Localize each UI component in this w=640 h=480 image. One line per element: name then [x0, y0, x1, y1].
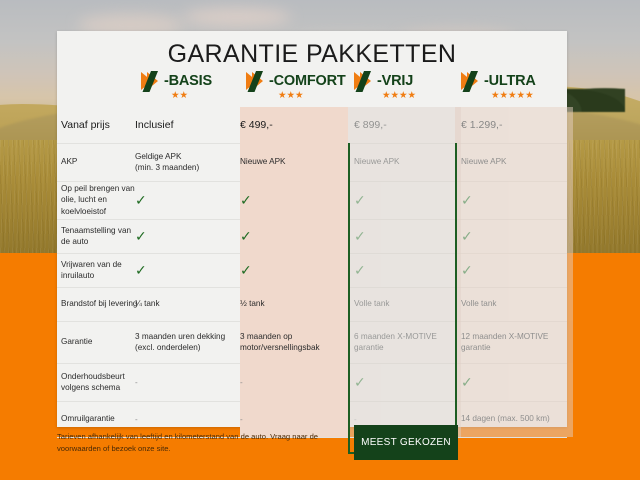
row-label: Tenaamstelling van de auto	[57, 219, 139, 253]
star-rating-comfort: ★★★	[278, 91, 304, 101]
check-icon: ✓	[461, 193, 473, 207]
x-motive-logo-icon	[354, 71, 376, 91]
check-icon: ✓	[354, 375, 366, 389]
table-cell: 6 maanden X-MOTIVEgarantie	[348, 321, 461, 363]
table-cell: ✓	[240, 219, 348, 253]
page-title: GARANTIE PAKKETTEN	[57, 31, 567, 67]
check-icon: ✓	[240, 229, 252, 243]
row-label: Onderhoudsbeurt volgens schema	[57, 363, 139, 401]
cell-value: € 899,-	[354, 118, 387, 132]
cell-value: Geldige APK(min. 3 maanden)	[135, 151, 199, 173]
table-cell: 3 maanden uren dekking(excl. onderdelen)	[135, 321, 240, 363]
row-label-text: Omruilgarantie	[61, 413, 115, 424]
empty-dash: -	[135, 415, 138, 424]
table-cell: ✓	[348, 219, 461, 253]
cell-value: € 499,-	[240, 118, 273, 132]
table-row: Op peil brengen van olie, lucht en koelv…	[57, 181, 567, 220]
cell-value: Nieuwe APK	[461, 156, 507, 167]
check-icon: ✓	[461, 229, 473, 243]
table-cell: Inclusief	[135, 107, 240, 143]
row-label: Brandstof bij levering	[57, 287, 139, 321]
table-cell: ✓	[135, 181, 240, 219]
table-row: AKPGeldige APK(min. 3 maanden)Nieuwe APK…	[57, 143, 567, 182]
check-icon: ✓	[461, 263, 473, 277]
x-motive-logo-icon	[461, 71, 483, 91]
table-cell: € 899,-	[348, 107, 461, 143]
table-row: Vrijwaren van de inruilauto✓✓✓✓	[57, 253, 567, 288]
table-cell: Nieuwe APK	[240, 143, 348, 181]
row-label-text: AKP	[61, 156, 77, 167]
highlight-border-left	[348, 143, 350, 454]
row-label: Vrijwaren van de inruilauto	[57, 253, 139, 287]
table-cell: ✓	[240, 253, 348, 287]
row-label-text: Vanaf prijs	[61, 118, 110, 132]
table-cell: ¼ tank	[135, 287, 240, 321]
table-cell: ✓	[135, 219, 240, 253]
table-cell: 12 maanden X-MOTIVEgarantie	[455, 321, 573, 363]
check-icon: ✓	[354, 193, 366, 207]
cell-value: 14 dagen (max. 500 km)	[461, 413, 550, 424]
table-cell: ✓	[348, 181, 461, 219]
row-label-text: Vrijwaren van de inruilauto	[61, 259, 139, 281]
cell-value: Nieuwe APK	[354, 156, 400, 167]
empty-dash: -	[135, 378, 138, 387]
table-cell: -	[240, 363, 348, 401]
table-cell: Nieuwe APK	[455, 143, 573, 181]
table-cell: Volle tank	[455, 287, 573, 321]
row-label: Vanaf prijs	[57, 107, 139, 143]
cell-value: ¼ tank	[135, 298, 160, 309]
table-cell: -	[135, 363, 240, 401]
row-label-text: Onderhoudsbeurt volgens schema	[61, 371, 139, 393]
row-label-text: Tenaamstelling van de auto	[61, 225, 139, 247]
package-name: -BASIS	[164, 73, 212, 89]
logo-vrij: -VRIJ	[348, 71, 455, 91]
table-cell: ½ tank	[240, 287, 348, 321]
cell-value: € 1.299,-	[461, 118, 502, 132]
star-rating-basis: ★★	[171, 91, 188, 101]
table-row: Vanaf prijsInclusief€ 499,-€ 899,-€ 1.29…	[57, 107, 567, 144]
row-label-text: Op peil brengen van olie, lucht en koelv…	[61, 183, 139, 216]
footer-note: Tarieven afhankelijk van leeftijd en kil…	[57, 431, 347, 455]
cell-value: ½ tank	[240, 298, 265, 309]
cell-value: 12 maanden X-MOTIVEgarantie	[461, 331, 548, 353]
cell-value: Inclusief	[135, 118, 174, 132]
cell-value: 6 maanden X-MOTIVEgarantie	[354, 331, 437, 353]
table-row: Tenaamstelling van de auto✓✓✓✓	[57, 219, 567, 254]
x-motive-logo-icon	[246, 71, 268, 91]
cell-value: 3 maanden uren dekking(excl. onderdelen)	[135, 331, 225, 353]
table-cell: 14 dagen (max. 500 km)	[455, 401, 573, 437]
table-cell: ✓	[348, 253, 461, 287]
cell-value: 3 maanden opmotor/versnellingsbak	[240, 331, 320, 353]
cloud	[183, 8, 291, 26]
check-icon: ✓	[354, 263, 366, 277]
check-icon: ✓	[135, 263, 147, 277]
table-cell: Volle tank	[348, 287, 461, 321]
table-cell: Nieuwe APK	[348, 143, 461, 181]
table-cell: 3 maanden opmotor/versnellingsbak	[240, 321, 348, 363]
package-header-basis[interactable]: -BASIS★★	[135, 71, 240, 107]
cell-value: Nieuwe APK	[240, 156, 286, 167]
table-cell: ✓	[455, 363, 573, 401]
table-cell: ✓	[348, 363, 461, 401]
highlight-border-right	[455, 143, 457, 454]
table-row: Garantie3 maanden uren dekking(excl. ond…	[57, 321, 567, 364]
meest-gekozen-badge[interactable]: MEEST GEKOZEN	[354, 425, 458, 460]
row-label: Garantie	[57, 321, 139, 363]
cell-value: Volle tank	[461, 298, 497, 309]
row-label: Op peil brengen van olie, lucht en koelv…	[57, 181, 139, 219]
package-name: -COMFORT	[269, 73, 346, 89]
x-motive-logo-icon	[141, 71, 163, 91]
star-rating-ultra: ★★★★★	[491, 91, 534, 101]
check-icon: ✓	[240, 263, 252, 277]
star-rating-vrij: ★★★★	[382, 91, 416, 101]
table-cell: € 499,-	[240, 107, 348, 143]
package-name: -VRIJ	[377, 73, 413, 89]
package-name: -ULTRA	[484, 73, 536, 89]
logo-ultra: -ULTRA	[455, 71, 567, 91]
table-cell: ✓	[455, 181, 573, 219]
cell-value: Volle tank	[354, 298, 390, 309]
check-icon: ✓	[461, 375, 473, 389]
logo-basis: -BASIS	[135, 71, 240, 91]
check-icon: ✓	[135, 193, 147, 207]
logo-comfort: -COMFORT	[240, 71, 348, 91]
table-cell: ✓	[455, 253, 573, 287]
check-icon: ✓	[135, 229, 147, 243]
table-cell: € 1.299,-	[455, 107, 573, 143]
row-label: AKP	[57, 143, 139, 181]
table-row: Brandstof bij levering¼ tank½ tankVolle …	[57, 287, 567, 322]
empty-dash: -	[240, 415, 243, 424]
package-header-vrij[interactable]: -VRIJ★★★★	[348, 71, 455, 107]
table-cell: ✓	[240, 181, 348, 219]
check-icon: ✓	[354, 229, 366, 243]
check-icon: ✓	[240, 193, 252, 207]
table-row: Onderhoudsbeurt volgens schema--✓✓	[57, 363, 567, 402]
table-cell: ✓	[455, 219, 573, 253]
pricing-card: GARANTIE PAKKETTEN -BASIS★★-COMFORT★★★-V…	[57, 31, 567, 427]
package-header-ultra[interactable]: -ULTRA★★★★★	[455, 71, 567, 107]
table-cell: Geldige APK(min. 3 maanden)	[135, 143, 240, 181]
package-header-comfort[interactable]: -COMFORT★★★	[240, 71, 348, 107]
table-cell: ✓	[135, 253, 240, 287]
row-label-text: Garantie	[61, 336, 92, 347]
empty-dash: -	[354, 415, 357, 424]
row-label-text: Brandstof bij levering	[61, 298, 137, 309]
empty-dash: -	[240, 378, 243, 387]
